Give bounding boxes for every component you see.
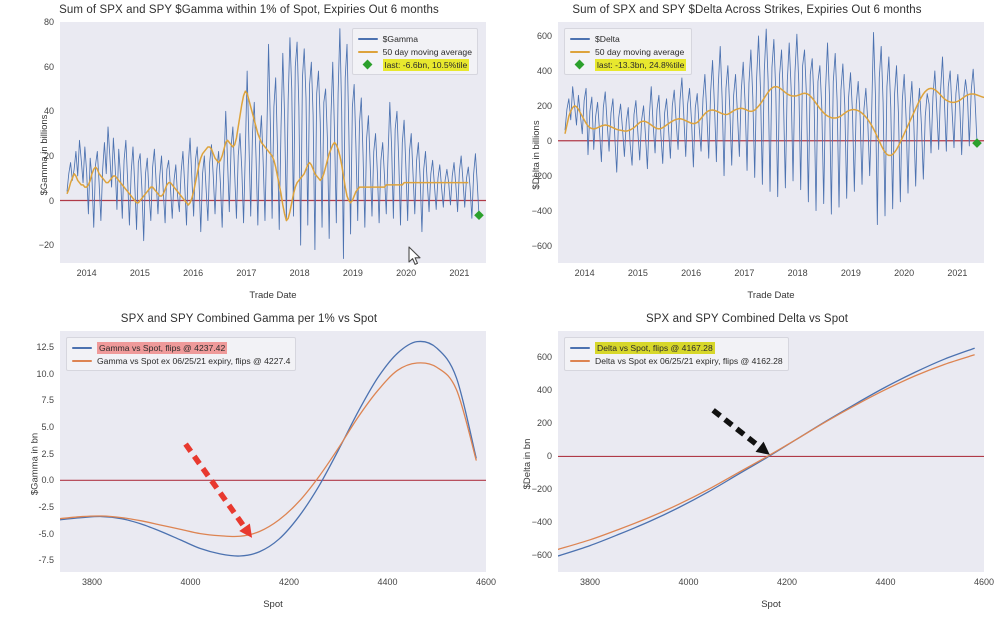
legend-entry-delta-vs-spot-ex-expiry: Delta vs Spot ex 06/25/21 expiry, flips … [570, 354, 783, 367]
series-curve-primary [60, 341, 476, 556]
y-tick-label: -7.5 [38, 555, 54, 565]
x-tick-label: 3800 [580, 577, 600, 587]
panel-gamma-vs-spot: SPX and SPY Combined Gamma per 1% vs Spo… [0, 309, 498, 618]
legend-label-gamma: $Gamma [383, 33, 418, 45]
y-tick-label: −400 [532, 517, 552, 527]
y-tick-label: 400 [537, 66, 552, 76]
legend-entry-last-value: last: -13.3bn, 24.8%tile [570, 58, 686, 71]
x-tick-label: 4200 [777, 577, 797, 587]
legend-label-gamma-vs-spot: Gamma vs Spot, flips @ 4237.42 [97, 342, 227, 354]
x-tick-label: 2021 [449, 268, 469, 278]
y-tick-label: −20 [39, 240, 54, 250]
y-tick-label: -5.0 [38, 529, 54, 539]
x-tick-label: 2019 [841, 268, 861, 278]
line-swatch-orange [570, 360, 590, 362]
delta-timeseries-legend[interactable]: $Delta 50 day moving average last: -13.3… [564, 28, 692, 75]
x-tick-label: 4000 [180, 577, 200, 587]
x-tick-label: 2016 [681, 268, 701, 278]
y-tick-label: −600 [532, 550, 552, 560]
delta-vs-spot-title: SPX and SPY Combined Delta vs Spot [498, 313, 996, 325]
line-swatch-blue [570, 347, 590, 349]
x-tick-label: 3800 [82, 577, 102, 587]
gamma-timeseries-title: Sum of SPX and SPY $Gamma within 1% of S… [0, 4, 498, 16]
legend-entry-gamma-vs-spot: Gamma vs Spot, flips @ 4237.42 [72, 341, 290, 354]
x-tick-label: 2020 [894, 268, 914, 278]
x-tick-label: 2015 [130, 268, 150, 278]
x-tick-label: 2021 [947, 268, 967, 278]
gamma-timeseries-xlabel: Trade Date [60, 290, 486, 301]
legend-entry-gamma: $Gamma [358, 32, 472, 45]
line-swatch-gold [570, 51, 590, 53]
y-tick-label: 40 [44, 106, 54, 116]
x-tick-label: 2014 [77, 268, 97, 278]
gamma-vs-spot-xlabel: Spot [60, 599, 486, 610]
x-tick-label: 4400 [875, 577, 895, 587]
last-value-marker [972, 138, 982, 148]
legend-entry-delta-vs-spot: Delta vs Spot, flips @ 4167.28 [570, 341, 783, 354]
diamond-marker-icon [358, 60, 378, 69]
gamma-vs-spot-ylabel: $Gamma in bn [30, 432, 41, 494]
x-tick-label: 2020 [396, 268, 416, 278]
y-tick-label: 5.0 [41, 422, 54, 432]
x-tick-label: 4400 [377, 577, 397, 587]
x-tick-label: 2017 [236, 268, 256, 278]
y-tick-label: 0 [547, 451, 552, 461]
y-tick-label: 12.5 [36, 342, 54, 352]
line-swatch-orange [72, 360, 92, 362]
legend-entry-moving-average: 50 day moving average [570, 45, 686, 58]
chart-grid: Sum of SPX and SPY $Gamma within 1% of S… [0, 0, 996, 618]
legend-entry-gamma-vs-spot-ex-expiry: Gamma vs Spot ex 06/25/21 expiry, flips … [72, 354, 290, 367]
y-tick-label: −200 [532, 484, 552, 494]
x-tick-label: 2015 [628, 268, 648, 278]
y-tick-label: 2.5 [41, 449, 54, 459]
series-curve-ex-expiry [60, 363, 476, 537]
legend-label-last-value: last: -6.6bn, 10.5%tile [383, 59, 470, 71]
y-tick-label: -2.5 [38, 502, 54, 512]
y-tick-label: −600 [532, 241, 552, 251]
x-tick-label: 2017 [734, 268, 754, 278]
y-tick-label: 7.5 [41, 395, 54, 405]
delta-vs-spot-legend[interactable]: Delta vs Spot, flips @ 4167.28 Delta vs … [564, 337, 789, 371]
delta-vs-spot-plot-area: −600−400−2000200400600 38004000420044004… [558, 331, 984, 572]
legend-label-delta-vs-spot-ex-expiry: Delta vs Spot ex 06/25/21 expiry, flips … [595, 355, 783, 367]
line-swatch-gold [358, 51, 378, 53]
line-swatch-blue [358, 38, 378, 40]
y-tick-label: 400 [537, 385, 552, 395]
legend-entry-last-value: last: -6.6bn, 10.5%tile [358, 58, 472, 71]
y-tick-label: 600 [537, 31, 552, 41]
y-tick-label: 600 [537, 352, 552, 362]
y-tick-label: 0 [547, 136, 552, 146]
gamma-vs-spot-title: SPX and SPY Combined Gamma per 1% vs Spo… [0, 313, 498, 325]
panel-delta-timeseries: Sum of SPX and SPY $Delta Across Strikes… [498, 0, 996, 309]
legend-label-delta-vs-spot: Delta vs Spot, flips @ 4167.28 [595, 342, 715, 354]
legend-label-gamma-vs-spot-ex-expiry: Gamma vs Spot ex 06/25/21 expiry, flips … [97, 355, 290, 367]
y-tick-label: 0 [49, 196, 54, 206]
annotation-arrow-head [756, 442, 770, 455]
gamma-vs-spot-legend[interactable]: Gamma vs Spot, flips @ 4237.42 Gamma vs … [66, 337, 296, 371]
legend-label-last-value: last: -13.3bn, 24.8%tile [595, 59, 686, 71]
y-tick-label: 20 [44, 151, 54, 161]
panel-gamma-timeseries: Sum of SPX and SPY $Gamma within 1% of S… [0, 0, 498, 309]
x-tick-label: 2014 [575, 268, 595, 278]
x-tick-label: 2018 [788, 268, 808, 278]
legend-entry-moving-average: 50 day moving average [358, 45, 472, 58]
x-tick-label: 2018 [290, 268, 310, 278]
y-tick-label: 80 [44, 17, 54, 27]
x-tick-label: 4600 [476, 577, 496, 587]
legend-label-moving-average: 50 day moving average [383, 46, 472, 58]
y-tick-label: −400 [532, 206, 552, 216]
x-tick-label: 4000 [678, 577, 698, 587]
delta-vs-spot-xlabel: Spot [558, 599, 984, 610]
x-tick-label: 2019 [343, 268, 363, 278]
annotation-arrow-shaft [186, 444, 245, 527]
y-tick-label: 0.0 [41, 475, 54, 485]
delta-timeseries-plot-area: −600−400−2000200400600 20142015201620172… [558, 22, 984, 263]
gamma-vs-spot-plot-area: -7.5-5.0-2.50.02.55.07.510.012.5 3800400… [60, 331, 486, 572]
last-value-marker [474, 210, 484, 220]
panel-delta-vs-spot: SPX and SPY Combined Delta vs Spot $Delt… [498, 309, 996, 618]
x-tick-label: 4600 [974, 577, 994, 587]
y-tick-label: 200 [537, 418, 552, 428]
delta-vs-spot-ylabel: $Delta in bn [522, 438, 533, 489]
delta-timeseries-title: Sum of SPX and SPY $Delta Across Strikes… [498, 4, 996, 16]
x-tick-label: 2016 [183, 268, 203, 278]
gamma-timeseries-plot-area: −20020406080 201420152016201720182019202… [60, 22, 486, 263]
y-tick-label: 200 [537, 101, 552, 111]
line-swatch-blue [570, 38, 590, 40]
legend-label-moving-average: 50 day moving average [595, 46, 684, 58]
y-tick-label: −200 [532, 171, 552, 181]
y-tick-label: 60 [44, 62, 54, 72]
diamond-marker-icon [570, 60, 590, 69]
x-tick-label: 4200 [279, 577, 299, 587]
gamma-timeseries-legend[interactable]: $Gamma 50 day moving average last: -6.6b… [352, 28, 478, 75]
legend-label-delta: $Delta [595, 33, 620, 45]
legend-entry-delta: $Delta [570, 32, 686, 45]
annotation-arrow-shaft [713, 410, 759, 447]
y-tick-label: 10.0 [36, 369, 54, 379]
line-swatch-blue [72, 347, 92, 349]
delta-timeseries-xlabel: Trade Date [558, 290, 984, 301]
